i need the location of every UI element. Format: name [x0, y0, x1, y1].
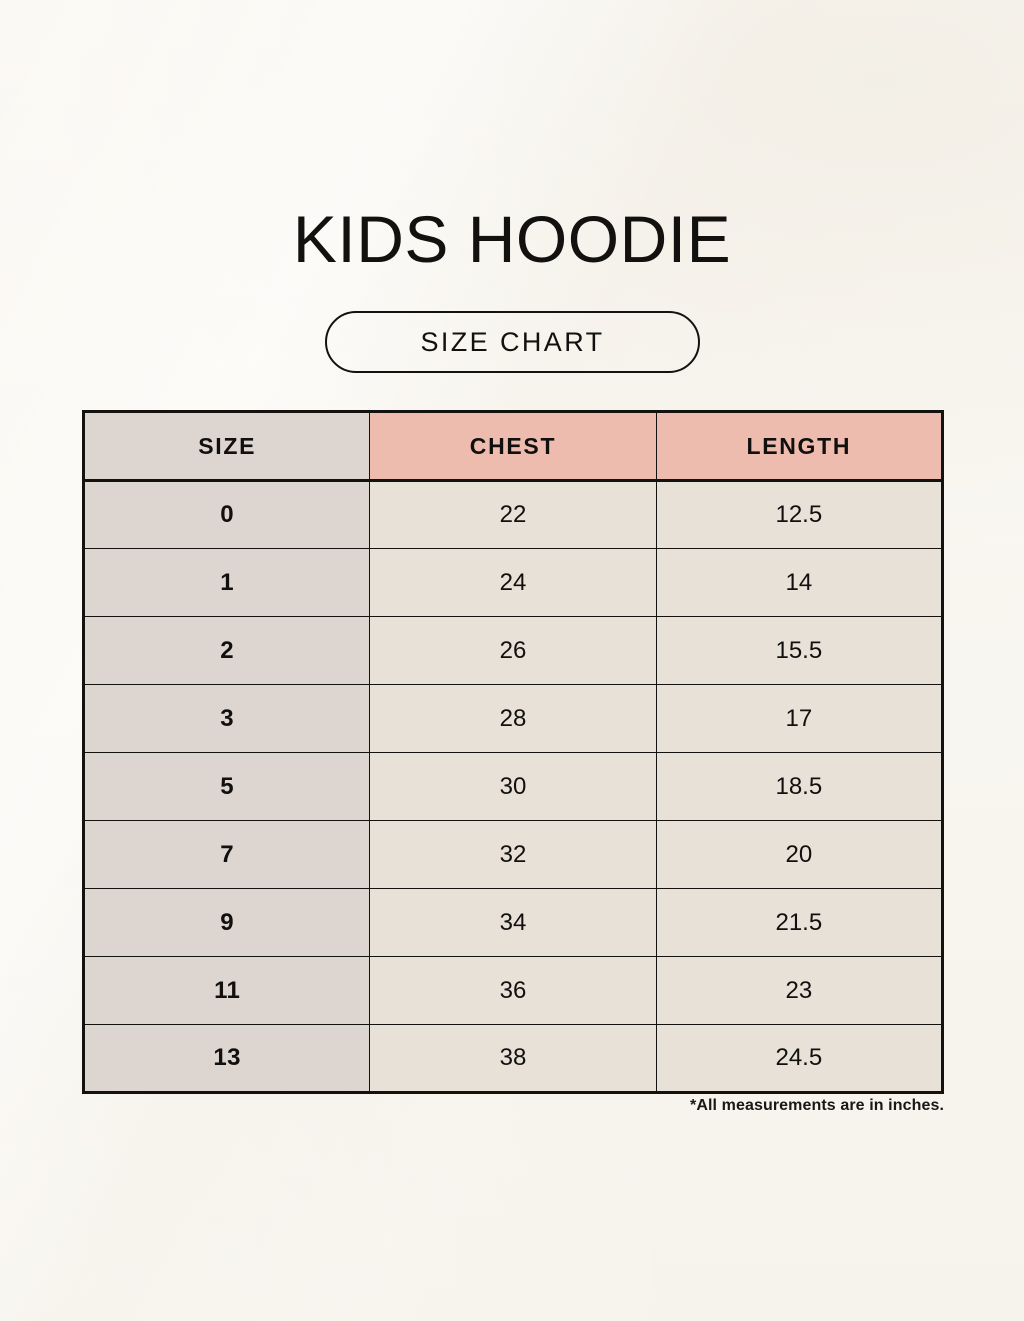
cell-length: 23 — [656, 957, 942, 1025]
table-row: 53018.5 — [84, 753, 943, 821]
table-row: 22615.5 — [84, 617, 943, 685]
cell-size: 5 — [84, 753, 370, 821]
cell-size: 13 — [84, 1025, 370, 1093]
table-header: SIZE CHEST LENGTH — [84, 412, 943, 481]
table-row: 133824.5 — [84, 1025, 943, 1093]
cell-length: 12.5 — [656, 481, 942, 549]
cell-size: 2 — [84, 617, 370, 685]
cell-chest: 36 — [370, 957, 656, 1025]
cell-length: 17 — [656, 685, 942, 753]
table-row: 32817 — [84, 685, 943, 753]
cell-chest: 24 — [370, 549, 656, 617]
cell-chest: 28 — [370, 685, 656, 753]
column-header-size: SIZE — [84, 412, 370, 481]
table-body: 02212.51241422615.53281753018.5732209342… — [84, 481, 943, 1093]
table-row: 12414 — [84, 549, 943, 617]
size-chart-badge-label: SIZE CHART — [420, 327, 604, 358]
cell-length: 14 — [656, 549, 942, 617]
cell-length: 18.5 — [656, 753, 942, 821]
column-header-length: LENGTH — [656, 412, 942, 481]
cell-chest: 38 — [370, 1025, 656, 1093]
cell-length: 24.5 — [656, 1025, 942, 1093]
table-row: 02212.5 — [84, 481, 943, 549]
cell-chest: 26 — [370, 617, 656, 685]
cell-size: 3 — [84, 685, 370, 753]
table-row: 73220 — [84, 821, 943, 889]
table-header-row: SIZE CHEST LENGTH — [84, 412, 943, 481]
cell-chest: 34 — [370, 889, 656, 957]
cell-size: 7 — [84, 821, 370, 889]
size-chart-badge: SIZE CHART — [325, 311, 700, 373]
cell-length: 20 — [656, 821, 942, 889]
cell-chest: 32 — [370, 821, 656, 889]
cell-length: 21.5 — [656, 889, 942, 957]
cell-chest: 30 — [370, 753, 656, 821]
size-chart-table: SIZE CHEST LENGTH 02212.51241422615.5328… — [82, 410, 944, 1094]
table-row: 113623 — [84, 957, 943, 1025]
cell-size: 1 — [84, 549, 370, 617]
table-row: 93421.5 — [84, 889, 943, 957]
cell-size: 11 — [84, 957, 370, 1025]
cell-size: 9 — [84, 889, 370, 957]
column-header-chest: CHEST — [370, 412, 656, 481]
cell-size: 0 — [84, 481, 370, 549]
cell-length: 15.5 — [656, 617, 942, 685]
size-chart-page: KIDS HOODIE SIZE CHART SIZE CHEST LENGTH… — [0, 0, 1024, 1321]
page-title: KIDS HOODIE — [0, 199, 1024, 279]
measurement-footnote: *All measurements are in inches. — [82, 1097, 944, 1115]
cell-chest: 22 — [370, 481, 656, 549]
